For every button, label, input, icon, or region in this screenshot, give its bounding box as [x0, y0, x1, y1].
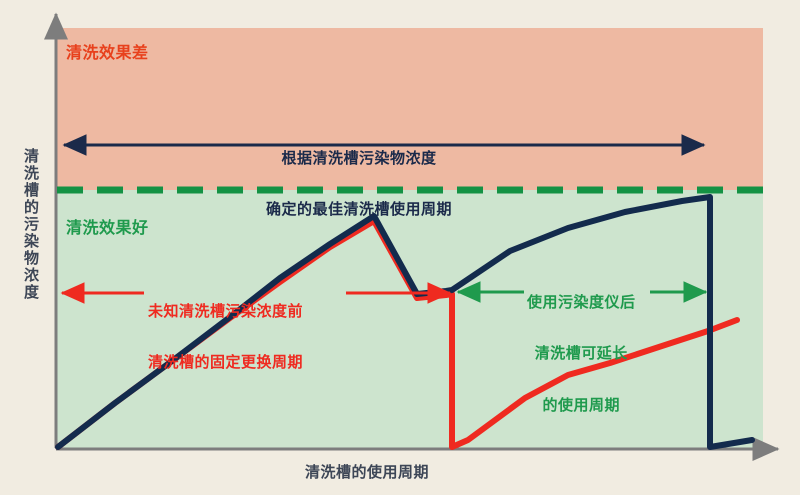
annotation-optimal-cycle-line-2: 确定的最佳清洗槽使用周期 [266, 201, 452, 218]
chart-figure: 清洗效果差 清洗效果好 根据清洗槽污染物浓度 确定的最佳清洗槽使用周期 未知清洗… [0, 0, 800, 495]
x-axis-title: 清洗槽的使用周期 [305, 464, 429, 481]
annotation-optimal-cycle-line-1: 根据清洗槽污染物浓度 [266, 150, 452, 167]
band-label-poor-cleaning: 清洗效果差 [66, 44, 149, 62]
annotation-extended-cycle-line-3: 的使用周期 [527, 397, 636, 414]
annotation-extended-cycle-line-1: 使用污染度仪后 [527, 294, 636, 311]
annotation-fixed-cycle: 未知清洗槽污染浓度前 清洗槽的固定更换周期 [148, 268, 303, 406]
y-axis-title: 清洗槽的污染物浓度 [9, 148, 39, 301]
annotation-optimal-cycle: 根据清洗槽污染物浓度 确定的最佳清洗槽使用周期 [266, 115, 452, 253]
annotation-extended-cycle: 使用污染度仪后 清洗槽可延长 的使用周期 [527, 259, 636, 449]
annotation-extended-cycle-line-2: 清洗槽可延长 [527, 345, 636, 362]
annotation-fixed-cycle-line-2: 清洗槽的固定更换周期 [148, 354, 303, 371]
band-label-good-cleaning: 清洗效果好 [66, 219, 149, 237]
annotation-fixed-cycle-line-1: 未知清洗槽污染浓度前 [148, 303, 303, 320]
